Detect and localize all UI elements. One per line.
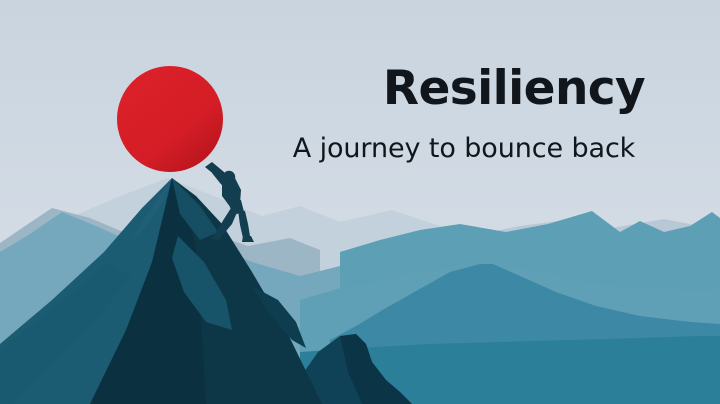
title-slide: Resiliency A journey to bounce back [0, 0, 720, 404]
mountain-scene-illustration [0, 0, 720, 404]
red-boulder [117, 66, 223, 172]
